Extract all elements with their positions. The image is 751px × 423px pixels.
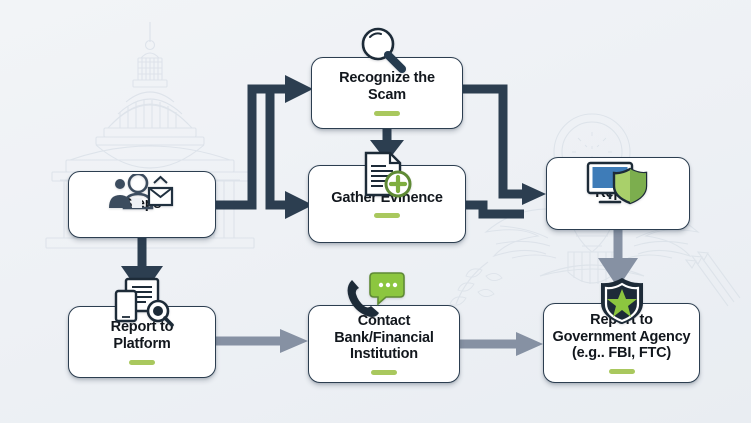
node-gather-evinence-label: Gather Evinence	[331, 190, 442, 207]
node-contact-bank[interactable]: Contact Bank/Financial Institution	[308, 305, 460, 383]
node-contact-bank-accent	[371, 370, 397, 375]
node-steps-label: Steps	[123, 196, 162, 213]
recognize-to-gather-arrow	[370, 129, 404, 162]
steps-to-gather-arrow	[270, 89, 313, 219]
node-report-to-platform-label: Report to Platform	[111, 319, 174, 353]
node-recognize-the-scam-accent	[374, 111, 400, 116]
node-contact-bank-label: Contact Bank/Financial Institution	[334, 313, 434, 363]
steps-to-platform-arrow	[121, 238, 163, 296]
report-to-agency-arrow	[598, 230, 638, 288]
node-report-to-platform[interactable]: Report to Platform	[68, 306, 216, 378]
node-steps[interactable]: Steps	[68, 171, 216, 238]
node-recognize-the-scam[interactable]: Recognize the Scam	[311, 57, 463, 129]
node-gather-evinence-accent	[374, 213, 400, 218]
node-report-government-agency[interactable]: Report to Government Agency (e.g.. FBI, …	[543, 303, 700, 383]
steps-to-recognize-arrow	[216, 75, 313, 205]
bank-to-agency-arrow	[460, 332, 543, 356]
node-gather-evinence[interactable]: Gather Evinence	[308, 165, 466, 243]
node-report-label: Report	[595, 185, 641, 202]
node-recognize-the-scam-label: Recognize the Scam	[339, 70, 435, 104]
recognize-to-report-arrow	[463, 89, 546, 205]
flowchart-canvas: .navy { stroke:#2c3e50; fill:none; strok…	[0, 0, 751, 423]
node-report-government-agency-label: Report to Government Agency (e.g.. FBI, …	[553, 312, 691, 362]
gather-to-report-arrow	[466, 205, 524, 214]
node-report[interactable]: Report	[546, 157, 690, 230]
platform-to-bank-arrow	[216, 329, 308, 353]
node-report-to-platform-accent	[129, 360, 155, 365]
node-report-government-agency-accent	[609, 369, 635, 374]
